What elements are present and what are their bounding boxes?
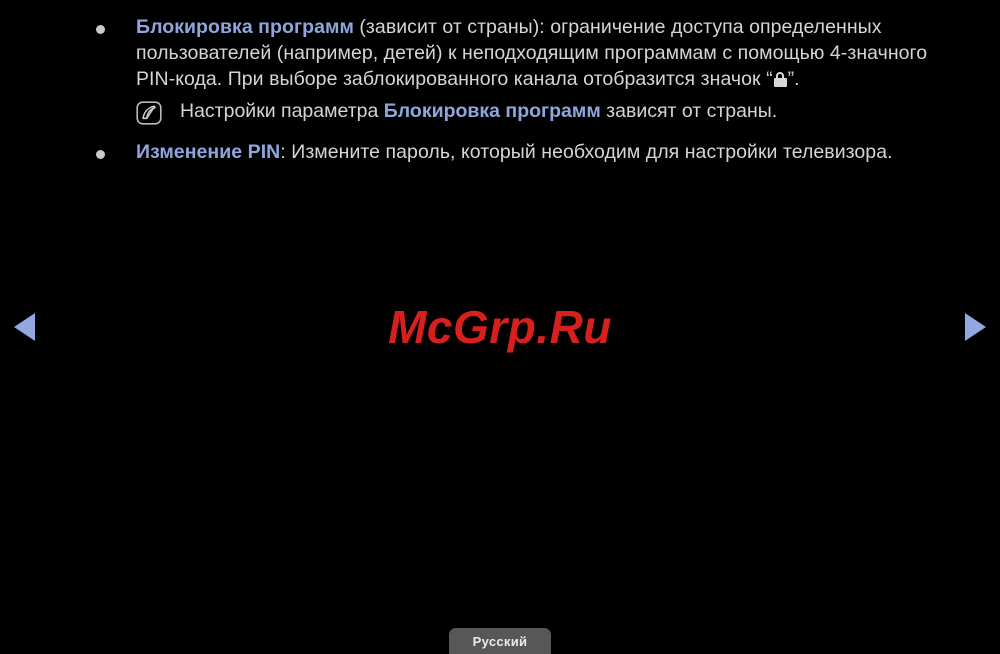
bullet-dot-icon	[96, 25, 105, 34]
list-item: Блокировка программ (зависит от страны):…	[0, 0, 1000, 92]
list-item-paragraph: Изменение PIN: Измените пароль, который …	[136, 139, 970, 165]
watermark-logo: McGrp.Ru	[0, 300, 1000, 354]
triangle-left-icon[interactable]	[14, 313, 35, 341]
triangle-right-icon[interactable]	[965, 313, 986, 341]
bullet-dot-icon	[96, 150, 105, 159]
term-change-pin: Изменение PIN	[136, 141, 280, 163]
note-text-before: Настройки параметра	[180, 100, 384, 122]
list-item-body-text-tail: ”.	[788, 68, 800, 90]
language-label: Русский	[473, 634, 528, 649]
note-text: Настройки параметра Блокировка программ …	[180, 98, 777, 124]
note-pen-icon	[136, 101, 162, 125]
note-text-after: зависят от страны.	[601, 100, 777, 122]
list-item-body-text: : Измените пароль, который необходим для…	[280, 141, 892, 163]
note-term: Блокировка программ	[384, 100, 601, 122]
language-button[interactable]: Русский	[449, 628, 551, 654]
list-item: Изменение PIN: Измените пароль, который …	[0, 125, 1000, 165]
lock-icon	[774, 72, 787, 87]
page-content: Блокировка программ (зависит от страны):…	[0, 0, 1000, 165]
term-program-lock: Блокировка программ	[136, 16, 354, 38]
note-row: Настройки параметра Блокировка программ …	[0, 92, 1000, 125]
list-item-paragraph: Блокировка программ (зависит от страны):…	[136, 14, 970, 92]
